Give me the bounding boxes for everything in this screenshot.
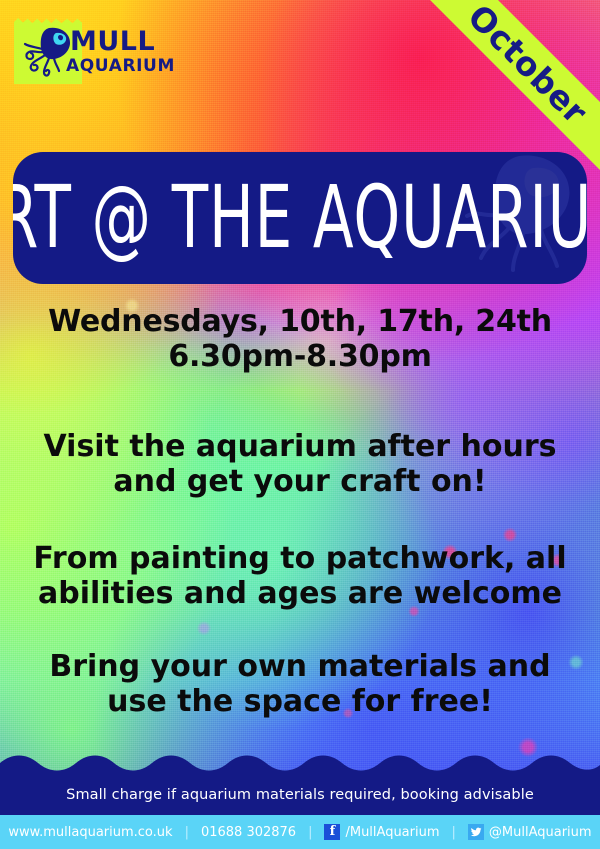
event-dates-line-1: Wednesdays, 10th, 17th, 24th — [0, 305, 600, 340]
logo-line-aquarium: AQUARIUM — [66, 58, 178, 75]
copy-block-2: From painting to patchwork, all abilitie… — [0, 542, 600, 612]
phone-label: 01688 302876 — [201, 825, 296, 840]
title-banner: ART @ THE AQUARIUM — [13, 152, 587, 284]
logo: MULL AQUARIUM — [14, 12, 174, 84]
event-dates: Wednesdays, 10th, 17th, 24th 6.30pm-8.30… — [0, 305, 600, 375]
background-gradient — [0, 0, 600, 849]
logo-line-mull: MULL — [70, 28, 178, 55]
copy-block-1-line-2: and get your craft on! — [0, 465, 600, 500]
month-ribbon-label: October — [461, 0, 596, 131]
copy-block-1-line-1: Visit the aquarium after hours — [0, 430, 600, 465]
footer-wave-band: Small charge if aquarium materials requi… — [0, 749, 600, 815]
copy-block-2-line-2: abilities and ages are welcome — [0, 577, 600, 612]
background-watercolour-blobs — [0, 0, 600, 849]
separator-3: | — [440, 825, 468, 840]
wave-shape — [0, 749, 600, 815]
page-title: ART @ THE AQUARIUM — [53, 152, 547, 284]
copy-block-1: Visit the aquarium after hours and get y… — [0, 430, 600, 500]
website-label: www.mullaquarium.co.uk — [8, 825, 172, 840]
background-speckles — [0, 0, 600, 849]
footer-note: Small charge if aquarium materials requi… — [0, 787, 600, 803]
copy-block-2-line-1: From painting to patchwork, all — [0, 542, 600, 577]
event-dates-line-2: 6.30pm-8.30pm — [0, 340, 600, 375]
twitter-link[interactable]: @MullAquarium — [468, 824, 592, 840]
separator-2: | — [296, 825, 324, 840]
facebook-icon: f — [324, 824, 340, 840]
website-link[interactable]: www.mullaquarium.co.uk — [8, 825, 172, 840]
facebook-label: /MullAquarium — [345, 825, 439, 840]
phone-number[interactable]: 01688 302876 — [201, 825, 296, 840]
background-paper-grain — [0, 0, 600, 849]
copy-block-3: Bring your own materials and use the spa… — [0, 650, 600, 720]
facebook-link[interactable]: f /MullAquarium — [324, 824, 439, 840]
twitter-label: @MullAquarium — [489, 825, 592, 840]
poster-canvas: MULL AQUARIUM October ART @ THE AQUARIUM… — [0, 0, 600, 849]
copy-block-3-line-1: Bring your own materials and — [0, 650, 600, 685]
twitter-icon — [468, 824, 484, 840]
copy-block-3-line-2: use the space for free! — [0, 685, 600, 720]
contact-bar: www.mullaquarium.co.uk | 01688 302876 | … — [0, 815, 600, 849]
logo-wordmark: MULL AQUARIUM — [66, 28, 178, 75]
separator-1: | — [173, 825, 201, 840]
month-ribbon: October — [419, 0, 600, 173]
